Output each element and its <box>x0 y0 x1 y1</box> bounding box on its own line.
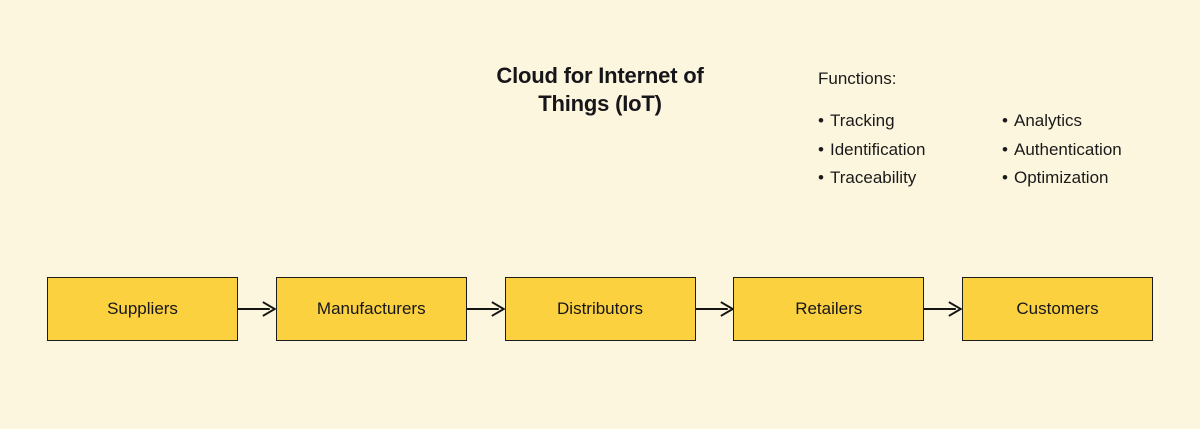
arrow-right-icon <box>696 301 734 317</box>
functions-column-right: • Analytics • Authentication • Optimizat… <box>1002 107 1172 193</box>
functions-column-left: • Tracking • Identification • Traceabili… <box>818 107 978 193</box>
list-item: • Traceability <box>818 164 978 193</box>
bullet-icon: • <box>818 107 830 136</box>
flow-node-label: Retailers <box>795 299 862 319</box>
bullet-icon: • <box>1002 164 1014 193</box>
list-item: • Optimization <box>1002 164 1172 193</box>
bullet-icon: • <box>1002 136 1014 165</box>
flow-node-suppliers[interactable]: Suppliers <box>47 277 238 341</box>
list-item: • Tracking <box>818 107 978 136</box>
flow-node-manufacturers[interactable]: Manufacturers <box>276 277 467 341</box>
flow-node-retailers[interactable]: Retailers <box>733 277 924 341</box>
function-label: Analytics <box>1014 107 1082 136</box>
flow-node-customers[interactable]: Customers <box>962 277 1153 341</box>
function-label: Optimization <box>1014 164 1108 193</box>
flow-node-label: Distributors <box>557 299 643 319</box>
list-item: • Identification <box>818 136 978 165</box>
bullet-icon: • <box>1002 107 1014 136</box>
flow-node-label: Manufacturers <box>317 299 426 319</box>
function-label: Tracking <box>830 107 895 136</box>
flow-arrow-4 <box>924 277 962 341</box>
function-label: Authentication <box>1014 136 1122 165</box>
diagram-canvas: Cloud for Internet of Things (IoT) Funct… <box>0 0 1200 429</box>
functions-panel: Functions: • Tracking • Identification •… <box>818 68 1178 193</box>
flow-arrow-1 <box>238 277 276 341</box>
flow-node-distributors[interactable]: Distributors <box>505 277 696 341</box>
list-item: • Analytics <box>1002 107 1172 136</box>
bullet-icon: • <box>818 164 830 193</box>
title-line-1: Cloud for Internet of <box>430 62 770 90</box>
arrow-right-icon <box>238 301 276 317</box>
function-label: Identification <box>830 136 925 165</box>
functions-columns: • Tracking • Identification • Traceabili… <box>818 107 1178 193</box>
list-item: • Authentication <box>1002 136 1172 165</box>
functions-heading: Functions: <box>818 68 1178 90</box>
bullet-icon: • <box>818 136 830 165</box>
function-label: Traceability <box>830 164 916 193</box>
supply-chain-flow: Suppliers Manufacturers Distributors <box>47 277 1153 341</box>
arrow-right-icon <box>924 301 962 317</box>
flow-arrow-3 <box>696 277 734 341</box>
diagram-title: Cloud for Internet of Things (IoT) <box>430 62 770 118</box>
flow-node-label: Customers <box>1016 299 1098 319</box>
flow-arrow-2 <box>467 277 505 341</box>
arrow-right-icon <box>467 301 505 317</box>
flow-node-label: Suppliers <box>107 299 178 319</box>
title-line-2: Things (IoT) <box>430 90 770 118</box>
